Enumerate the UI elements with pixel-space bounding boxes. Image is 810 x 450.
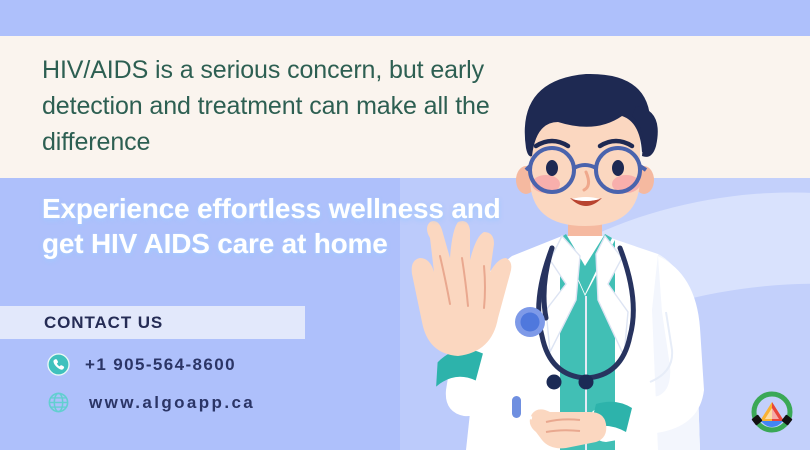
hiv-aids-care-banner: HIV/AIDS is a serious concern, but early… (0, 0, 810, 450)
phone-icon (46, 352, 71, 377)
contact-row-website[interactable]: www.algoapp.ca (46, 390, 255, 415)
main-headline: Experience effortless wellness and get H… (42, 191, 512, 261)
lede-paragraph: HIV/AIDS is a serious concern, but early… (42, 52, 512, 160)
globe-icon (46, 390, 71, 415)
phone-number-text: +1 905-564-8600 (85, 355, 236, 375)
website-url-text: www.algoapp.ca (89, 393, 255, 413)
contact-us-bar: CONTACT US (0, 306, 305, 339)
algoapp-logo[interactable] (748, 388, 796, 436)
top-color-band (0, 0, 810, 36)
contact-row-phone[interactable]: +1 905-564-8600 (46, 352, 236, 377)
contact-us-label: CONTACT US (44, 313, 163, 333)
